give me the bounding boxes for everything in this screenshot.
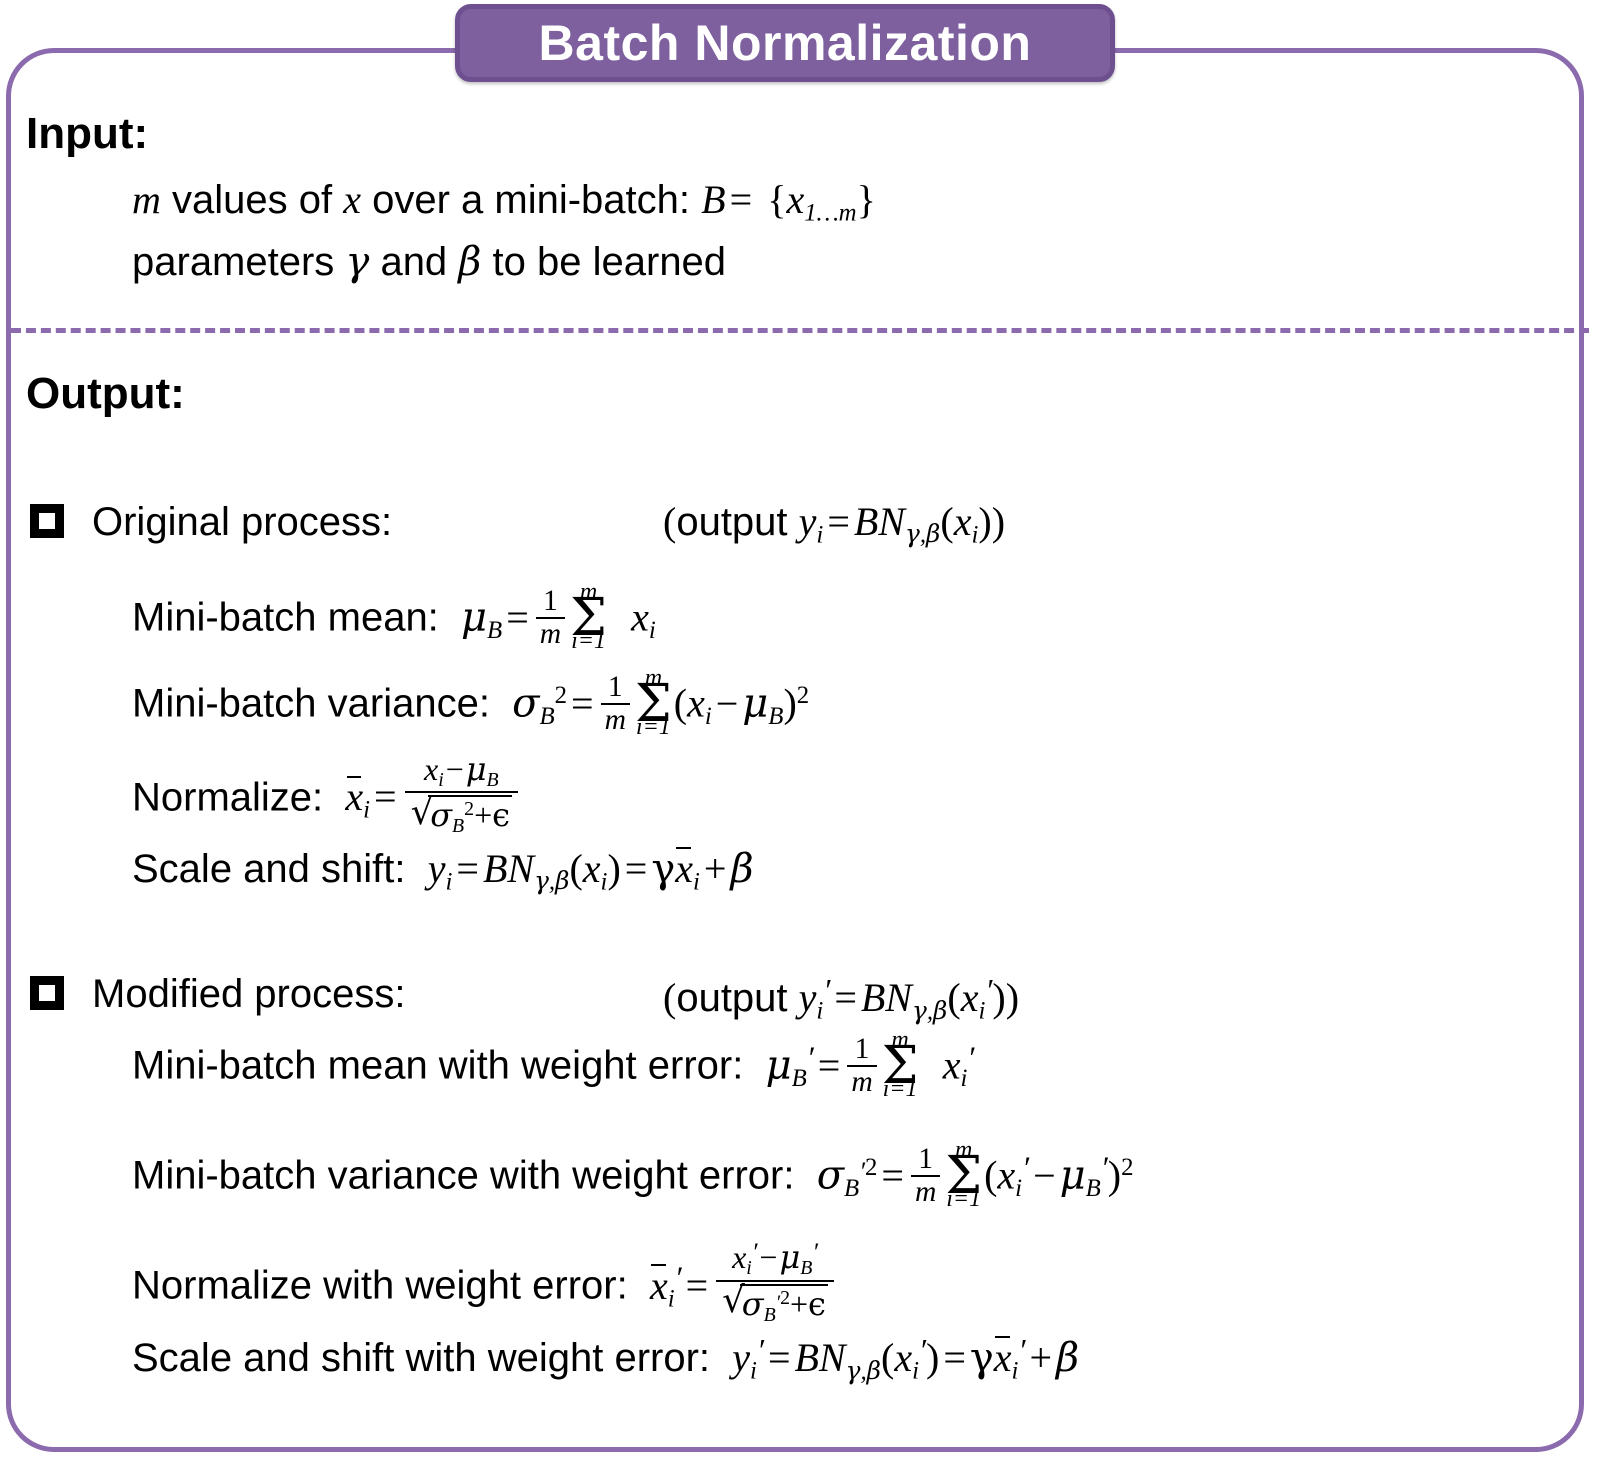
original-step-variance-label: Mini-batch variance: bbox=[132, 682, 490, 726]
modified-step-scale-shift-label: Scale and shift with weight error: bbox=[132, 1336, 710, 1380]
input-line-2: parameters γ and β to be learned bbox=[132, 242, 726, 282]
title-banner: Batch Normalization bbox=[455, 4, 1115, 82]
checkbox-square-icon bbox=[30, 976, 64, 1010]
original-step-scale-shift-label: Scale and shift: bbox=[132, 847, 406, 891]
modified-process-note: (output yi′=BNγ,β(xi′)) bbox=[663, 974, 1019, 1024]
modified-step-variance-label: Mini-batch variance with weight error: bbox=[132, 1154, 794, 1198]
original-step-normalize: Normalize: xi=xi−μB√σB2+ϵ bbox=[132, 752, 522, 838]
modified-step-variance: Mini-batch variance with weight error: σ… bbox=[132, 1144, 1134, 1208]
page-title: Batch Normalization bbox=[539, 18, 1032, 68]
input-line-1: m values of x over a mini-batch: B= {x1…… bbox=[132, 180, 876, 226]
modified-step-mean: Mini-batch mean with weight error: μB′=1… bbox=[132, 1034, 974, 1098]
checkbox-square-icon bbox=[30, 504, 64, 538]
original-step-variance: Mini-batch variance: σB2=1mmΣi=1(xi−μB)2 bbox=[132, 672, 809, 736]
modified-step-scale-shift: Scale and shift with weight error: yi′=B… bbox=[132, 1334, 1079, 1384]
modified-process-label: Modified process: bbox=[92, 974, 405, 1014]
input-heading: Input: bbox=[26, 112, 148, 156]
original-step-scale-shift: Scale and shift: yi=BNγ,β(xi)=γxi+β bbox=[132, 848, 754, 895]
modified-step-mean-label: Mini-batch mean with weight error: bbox=[132, 1044, 743, 1088]
original-step-normalize-label: Normalize: bbox=[132, 775, 323, 819]
original-process-note: (output yi=BNγ,β(xi)) bbox=[663, 502, 1005, 548]
original-step-mean: Mini-batch mean: μB=1mmΣi=1 xi bbox=[132, 586, 656, 650]
original-process-label: Original process: bbox=[92, 502, 392, 542]
modified-step-normalize-label: Normalize with weight error: bbox=[132, 1264, 628, 1308]
modified-step-normalize: Normalize with weight error: xi′=xi′−μB′… bbox=[132, 1238, 838, 1326]
algorithm-content: Input: m values of x over a mini-batch: … bbox=[0, 0, 1600, 1467]
section-divider bbox=[11, 328, 1589, 333]
original-step-mean-label: Mini-batch mean: bbox=[132, 596, 439, 640]
output-heading: Output: bbox=[26, 372, 185, 416]
